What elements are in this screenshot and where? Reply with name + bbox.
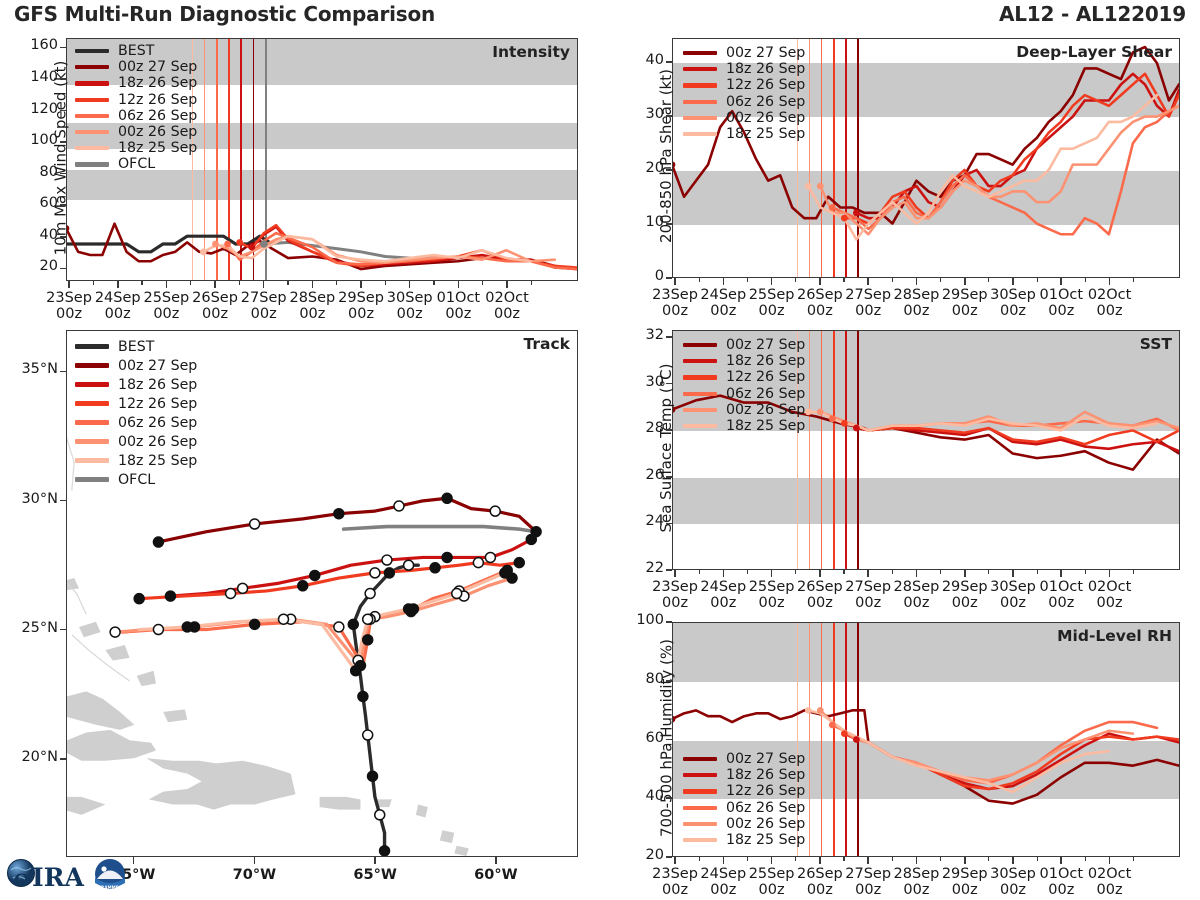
legend-swatch xyxy=(75,81,109,85)
panel-label-rh: Mid-Level RH xyxy=(1057,627,1172,645)
axis-tick-y: 20 xyxy=(618,847,664,863)
legend-label: 00z 26 Sep xyxy=(726,110,805,126)
axis-tickmark-x-minor xyxy=(699,570,700,574)
axis-tickmark-y xyxy=(60,141,66,143)
legend-swatch xyxy=(683,773,717,777)
axis-tickmark-x xyxy=(674,570,676,577)
axis-tickmark-x-minor xyxy=(988,857,989,861)
tick-date: 02Oct xyxy=(1075,866,1145,882)
legend-swatch xyxy=(683,806,717,810)
legend-sst: 00z 27 Sep18z 26 Sep12z 26 Sep06z 26 Sep… xyxy=(683,337,805,434)
legend-swatch xyxy=(683,100,717,104)
axis-tickmark-x-minor xyxy=(795,570,796,574)
legend-item: 06z 26 Sep xyxy=(683,94,805,110)
axis-tickmark-x xyxy=(964,570,966,577)
axis-tickmark-y xyxy=(666,223,672,225)
legend-swatch xyxy=(75,114,109,118)
track-marker-12z xyxy=(394,501,404,511)
axis-tickmark-x-minor xyxy=(1133,857,1134,861)
axis-tick-y: 30 xyxy=(618,106,664,122)
track-marker-12z xyxy=(334,622,344,632)
axis-tick-x: 02Oct00z xyxy=(1075,287,1145,319)
axis-tickmark-y xyxy=(60,78,66,80)
axis-tickmark-x-minor xyxy=(940,570,941,574)
axis-tickmark-x xyxy=(1109,857,1111,864)
legend-item: 12z 26 Sep xyxy=(75,394,197,413)
axis-tickmark-x-minor xyxy=(747,570,748,574)
legend-label: 12z 26 Sep xyxy=(118,396,197,412)
axis-tickmark-lat xyxy=(60,758,66,760)
track-marker-12z xyxy=(473,558,483,568)
legend-label: OFCL xyxy=(118,472,155,488)
landmass-antigua xyxy=(454,846,468,856)
legend-item: OFCL xyxy=(75,156,197,172)
axis-tickmark-x xyxy=(867,278,869,285)
axis-tick-lon: 70°W xyxy=(214,867,294,883)
axis-tickmark-y xyxy=(666,115,672,117)
axis-tickmark-x xyxy=(1060,857,1062,864)
axis-tick-y: 20 xyxy=(12,258,58,274)
legend-label: 18z 26 Sep xyxy=(726,61,805,77)
legend-label: 18z 25 Sep xyxy=(726,832,805,848)
axis-tickmark-y xyxy=(666,476,672,478)
legend-label: 00z 26 Sep xyxy=(726,402,805,418)
legend-label: 18z 25 Sep xyxy=(726,126,805,142)
axis-tick-lat: 35°N xyxy=(6,361,58,377)
axis-tickmark-y xyxy=(666,856,672,858)
axis-tickmark-x-minor xyxy=(531,281,532,285)
track-marker-12z xyxy=(250,519,260,529)
axis-tick-lon: 60°W xyxy=(456,867,536,883)
axis-tickmark-x xyxy=(1060,570,1062,577)
axis-tickmark-y xyxy=(666,523,672,525)
legend-item: 00z 26 Sep xyxy=(683,402,805,418)
legend-label: 06z 26 Sep xyxy=(726,800,805,816)
coastline-outline xyxy=(67,336,74,490)
axis-tick-y: 80 xyxy=(12,164,58,180)
tick-date: 02Oct xyxy=(1075,287,1145,303)
run-init-marker xyxy=(212,241,219,248)
axis-tickmark-x-minor xyxy=(843,857,844,861)
axis-tick-y: 60 xyxy=(12,195,58,211)
landmass-bahamas-3 xyxy=(105,645,129,660)
run-init-marker xyxy=(817,707,824,714)
panel-rh: Mid-Level RH00z 27 Sep18z 26 Sep12z 26 S… xyxy=(672,622,1180,857)
axis-tickmark-y xyxy=(666,336,672,338)
legend-item: 18z 26 Sep xyxy=(75,375,197,394)
legend-label: 18z 25 Sep xyxy=(118,140,197,156)
panel-shear: Deep-Layer Shear00z 27 Sep18z 26 Sep12z … xyxy=(672,38,1180,278)
run-init-marker xyxy=(200,248,207,255)
legend-item: 18z 25 Sep xyxy=(75,451,197,470)
tick-time: 00z xyxy=(472,306,542,322)
axis-tickmark-x xyxy=(867,857,869,864)
track-marker-12z xyxy=(370,568,380,578)
run-init-marker xyxy=(853,736,860,743)
axis-tickmark-x-minor xyxy=(747,857,748,861)
axis-tick-lat: 30°N xyxy=(6,491,58,507)
run-init-marker xyxy=(829,415,836,422)
track-marker-00z xyxy=(298,581,308,591)
legend-item: 00z 27 Sep xyxy=(683,45,805,61)
tick-time: 00z xyxy=(1075,303,1145,319)
axis-tickmark-x xyxy=(771,857,773,864)
track-marker-00z xyxy=(404,604,414,614)
diagnostic-figure: GFS Multi-Run Diagnostic Comparison AL12… xyxy=(0,0,1200,900)
plot-area-shear: Deep-Layer Shear00z 27 Sep18z 26 Sep12z … xyxy=(672,38,1180,278)
axis-tickmark-y xyxy=(666,621,672,623)
legend-item: 18z 26 Sep xyxy=(75,75,197,91)
axis-tickmark-y xyxy=(666,277,672,279)
legend-swatch xyxy=(683,67,717,71)
run-init-marker xyxy=(841,215,848,222)
axis-tickmark-y xyxy=(666,169,672,171)
track-marker-00z xyxy=(384,568,394,578)
cira-logo: C IRA RAMMB xyxy=(6,848,136,896)
legend-item: 06z 26 Sep xyxy=(683,800,805,816)
track-marker-00z xyxy=(442,493,452,503)
track-marker-12z xyxy=(365,589,375,599)
axis-tickmark-x-minor xyxy=(843,278,844,282)
landmass-cuba xyxy=(67,730,156,761)
axis-tickmark-x xyxy=(263,281,265,288)
axis-label-y-sst: Sea Surface Temp (°C) xyxy=(657,328,675,568)
legend-label: 00z 27 Sep xyxy=(118,358,197,374)
svg-text:RAMMB: RAMMB xyxy=(101,885,119,890)
legend-swatch xyxy=(75,65,109,69)
axis-tickmark-y xyxy=(666,61,672,63)
axis-tickmark-lat xyxy=(60,371,66,373)
track-marker-00z xyxy=(310,571,320,581)
legend-swatch xyxy=(683,343,717,347)
legend-swatch xyxy=(683,359,717,363)
legend-item: 00z 27 Sep xyxy=(75,356,197,375)
axis-tickmark-x-minor xyxy=(1085,570,1086,574)
legend-swatch xyxy=(75,382,109,386)
legend-item: BEST xyxy=(75,43,197,59)
legend-swatch xyxy=(683,789,717,793)
axis-tickmark-x-minor xyxy=(795,857,796,861)
axis-tickmark-lat xyxy=(60,500,66,502)
legend-swatch xyxy=(683,757,717,761)
axis-tickmark-y xyxy=(666,429,672,431)
tick-time: 00z xyxy=(1075,882,1145,898)
axis-tickmark-y xyxy=(666,569,672,571)
legend-label: 18z 26 Sep xyxy=(118,75,197,91)
legend-label: 06z 26 Sep xyxy=(726,386,805,402)
legend-item: 12z 26 Sep xyxy=(683,369,805,385)
track-marker-00z xyxy=(368,771,378,781)
axis-tick-y: 40 xyxy=(12,227,58,243)
run-init-marker xyxy=(841,730,848,737)
axis-tickmark-x xyxy=(1109,570,1111,577)
axis-tickmark-y xyxy=(60,268,66,270)
axis-tickmark-x-minor xyxy=(141,281,142,285)
track-marker-00z xyxy=(500,568,510,578)
axis-tick-x: 02Oct00z xyxy=(472,290,542,322)
axis-tickmark-x xyxy=(1012,570,1014,577)
track-marker-12z xyxy=(153,625,163,635)
axis-tickmark-x xyxy=(723,857,725,864)
axis-tick-y: 40 xyxy=(618,788,664,804)
legend-item: 00z 27 Sep xyxy=(683,337,805,353)
run-init-marker xyxy=(224,241,231,248)
axis-tickmark-x xyxy=(916,278,918,285)
legend-intensity: BEST00z 27 Sep18z 26 Sep12z 26 Sep06z 26… xyxy=(75,43,197,173)
track-line xyxy=(344,527,536,532)
axis-tickmark-x-minor xyxy=(239,281,240,285)
run-init-marker xyxy=(841,420,848,427)
legend-label: 12z 26 Sep xyxy=(726,369,805,385)
axis-tick-y: 40 xyxy=(618,52,664,68)
axis-tickmark-x xyxy=(68,281,70,288)
axis-tick-lat: 25°N xyxy=(6,620,58,636)
axis-tickmark-x-minor xyxy=(795,278,796,282)
axis-tickmark-y xyxy=(60,47,66,49)
legend-swatch xyxy=(75,477,109,481)
plot-area-track: TrackBEST00z 27 Sep18z 26 Sep12z 26 Sep0… xyxy=(66,330,578,857)
axis-tick-y: 60 xyxy=(618,730,664,746)
panel-track: TrackBEST00z 27 Sep18z 26 Sep12z 26 Sep0… xyxy=(66,330,578,857)
axis-tickmark-x xyxy=(916,570,918,577)
legend-swatch xyxy=(683,838,717,842)
axis-tickmark-x xyxy=(867,570,869,577)
legend-swatch xyxy=(683,116,717,120)
axis-tickmark-x-minor xyxy=(1133,570,1134,574)
plot-area-intensity: IntensityBEST00z 27 Sep18z 26 Sep12z 26 … xyxy=(66,38,578,281)
series-line xyxy=(252,227,577,269)
legend-label: 00z 27 Sep xyxy=(726,751,805,767)
track-marker-00z xyxy=(348,619,358,629)
plot-area-sst: SST00z 27 Sep18z 26 Sep12z 26 Sep06z 26 … xyxy=(672,330,1180,570)
panel-label-track: Track xyxy=(524,335,570,353)
track-marker-00z xyxy=(182,622,192,632)
run-init-marker xyxy=(853,425,860,432)
track-line xyxy=(158,498,536,542)
axis-tickmark-lon xyxy=(495,857,497,864)
track-marker-00z xyxy=(250,619,260,629)
legend-item: 06z 26 Sep xyxy=(75,413,197,432)
legend-item: 00z 26 Sep xyxy=(75,432,197,451)
track-marker-12z xyxy=(238,583,248,593)
track-marker-00z xyxy=(334,509,344,519)
legend-swatch xyxy=(683,424,717,428)
axis-tickmark-x xyxy=(360,281,362,288)
track-marker-00z xyxy=(351,666,361,676)
page-title: GFS Multi-Run Diagnostic Comparison xyxy=(14,2,435,26)
legend-item: 18z 26 Sep xyxy=(683,767,805,783)
tick-date: 02Oct xyxy=(472,290,542,306)
run-init-marker xyxy=(853,209,860,216)
landmass-leeward-2 xyxy=(440,830,454,843)
legend-item: 12z 26 Sep xyxy=(75,92,197,108)
axis-tick-y: 20 xyxy=(618,160,664,176)
axis-tick-y: 100 xyxy=(618,612,664,628)
axis-tick-y: 140 xyxy=(12,69,58,85)
axis-tickmark-x xyxy=(819,857,821,864)
axis-tickmark-y xyxy=(60,110,66,112)
run-init-marker xyxy=(829,204,836,211)
axis-tickmark-x-minor xyxy=(940,278,941,282)
track-marker-00z xyxy=(430,563,440,573)
axis-label-y-shear: 200-850 hPa Shear (kt) xyxy=(657,36,675,276)
landmass-virgin xyxy=(377,799,391,807)
axis-tickmark-x-minor xyxy=(988,278,989,282)
legend-swatch xyxy=(683,83,717,87)
axis-tick-y: 160 xyxy=(12,37,58,53)
svg-text:C: C xyxy=(14,871,28,891)
track-marker-12z xyxy=(382,555,392,565)
axis-tickmark-x xyxy=(723,278,725,285)
legend-swatch xyxy=(75,98,109,102)
legend-swatch xyxy=(683,51,717,55)
axis-tickmark-x xyxy=(1109,278,1111,285)
ofcl-init-marker xyxy=(260,240,268,248)
legend-label: 18z 25 Sep xyxy=(726,418,805,434)
landmass-leeward xyxy=(416,804,428,817)
landmass-jamaica xyxy=(67,797,105,815)
axis-tickmark-y xyxy=(60,204,66,206)
axis-tick-lat: 20°N xyxy=(6,749,58,765)
svg-text:IRA: IRA xyxy=(32,863,84,892)
legend-label: 00z 27 Sep xyxy=(726,45,805,61)
axis-tickmark-x-minor xyxy=(433,281,434,285)
axis-tickmark-x xyxy=(1012,278,1014,285)
landmass-bahamas-4 xyxy=(137,671,156,686)
legend-label: 06z 26 Sep xyxy=(726,94,805,110)
series-line xyxy=(844,734,1179,789)
panel-sst: SST00z 27 Sep18z 26 Sep12z 26 Sep06z 26 … xyxy=(672,330,1180,570)
axis-tickmark-y xyxy=(60,236,66,238)
axis-tick-y: 30 xyxy=(618,374,664,390)
legend-label: BEST xyxy=(118,43,154,59)
axis-tickmark-x-minor xyxy=(988,570,989,574)
axis-tick-y: 28 xyxy=(618,420,664,436)
run-init-marker xyxy=(248,244,255,251)
legend-item: 00z 27 Sep xyxy=(75,59,197,75)
axis-tickmark-x xyxy=(674,857,676,864)
axis-tickmark-y xyxy=(60,173,66,175)
legend-label: 06z 26 Sep xyxy=(118,415,197,431)
run-init-marker xyxy=(805,183,812,190)
legend-item: 00z 26 Sep xyxy=(75,124,197,140)
legend-item: 18z 25 Sep xyxy=(75,140,197,156)
series-line xyxy=(808,95,1157,239)
axis-tick-y: 26 xyxy=(618,467,664,483)
track-marker-00z xyxy=(165,591,175,601)
track-marker-00z xyxy=(134,594,144,604)
legend-label: OFCL xyxy=(118,156,155,172)
axis-tickmark-x-minor xyxy=(385,281,386,285)
run-init-marker xyxy=(817,409,824,416)
legend-swatch xyxy=(75,439,109,443)
track-marker-12z xyxy=(110,627,120,637)
legend-label: 18z 25 Sep xyxy=(118,453,197,469)
axis-tick-y: 100 xyxy=(12,132,58,148)
track-marker-00z xyxy=(442,552,452,562)
axis-tickmark-x-minor xyxy=(1037,570,1038,574)
axis-tick-y: 10 xyxy=(618,214,664,230)
axis-tickmark-y xyxy=(666,383,672,385)
axis-tickmark-x xyxy=(819,278,821,285)
axis-tickmark-y xyxy=(666,797,672,799)
run-init-marker xyxy=(805,409,812,416)
axis-tick-y: 24 xyxy=(618,513,664,529)
axis-tickmark-x xyxy=(771,278,773,285)
legend-label: 18z 26 Sep xyxy=(118,377,197,393)
axis-tickmark-x-minor xyxy=(1133,278,1134,282)
legend-label: BEST xyxy=(118,339,154,355)
legend-rh: 00z 27 Sep18z 26 Sep12z 26 Sep06z 26 Sep… xyxy=(683,751,805,848)
legend-label: 12z 26 Sep xyxy=(726,77,805,93)
axis-tickmark-x-minor xyxy=(1085,857,1086,861)
axis-tickmark-x-minor xyxy=(699,278,700,282)
legend-track: BEST00z 27 Sep18z 26 Sep12z 26 Sep06z 26… xyxy=(75,337,197,489)
track-marker-00z xyxy=(153,537,163,547)
axis-tickmark-x xyxy=(458,281,460,288)
landmass-bahamas-5 xyxy=(163,709,187,722)
track-marker-12z xyxy=(490,506,500,516)
legend-item: 12z 26 Sep xyxy=(683,77,805,93)
legend-item: 06z 26 Sep xyxy=(683,386,805,402)
axis-tickmark-y xyxy=(666,680,672,682)
axis-tickmark-x xyxy=(312,281,314,288)
tick-date: 02Oct xyxy=(1075,579,1145,595)
axis-tickmark-x xyxy=(964,857,966,864)
axis-tickmark-x-minor xyxy=(93,281,94,285)
axis-tickmark-x xyxy=(214,281,216,288)
legend-label: 18z 26 Sep xyxy=(726,353,805,369)
axis-tickmark-x xyxy=(117,281,119,288)
legend-shear: 00z 27 Sep18z 26 Sep12z 26 Sep06z 26 Sep… xyxy=(683,45,805,142)
legend-label: 00z 26 Sep xyxy=(726,816,805,832)
legend-item: 06z 26 Sep xyxy=(75,108,197,124)
axis-tickmark-x xyxy=(674,278,676,285)
legend-item: 18z 25 Sep xyxy=(683,126,805,142)
legend-item: 18z 26 Sep xyxy=(683,61,805,77)
legend-label: 00z 27 Sep xyxy=(726,337,805,353)
landmass-cuba-north xyxy=(67,691,134,730)
legend-swatch xyxy=(683,822,717,826)
axis-tick-lon: 65°W xyxy=(335,867,415,883)
panel-label-shear: Deep-Layer Shear xyxy=(1016,43,1172,61)
axis-tickmark-x-minor xyxy=(747,278,748,282)
panel-label-intensity: Intensity xyxy=(492,43,570,61)
axis-tickmark-x xyxy=(723,570,725,577)
landmass-bahamas-2 xyxy=(79,622,101,637)
plot-area-rh: Mid-Level RH00z 27 Sep18z 26 Sep12z 26 S… xyxy=(672,622,1180,857)
legend-label: 12z 26 Sep xyxy=(726,783,805,799)
axis-tickmark-lat xyxy=(60,629,66,631)
track-marker-12z xyxy=(452,589,462,599)
axis-tickmark-x xyxy=(409,281,411,288)
axis-tickmark-x xyxy=(1012,857,1014,864)
legend-item: 00z 27 Sep xyxy=(683,751,805,767)
axis-tickmark-y xyxy=(666,739,672,741)
track-marker-00z xyxy=(380,846,390,856)
axis-tick-y: 0 xyxy=(618,268,664,284)
legend-swatch xyxy=(75,363,109,367)
track-marker-12z xyxy=(485,552,495,562)
axis-tickmark-x-minor xyxy=(940,857,941,861)
legend-label: 00z 26 Sep xyxy=(118,434,197,450)
axis-tickmark-x xyxy=(771,570,773,577)
axis-tickmark-x xyxy=(166,281,168,288)
run-init-marker xyxy=(829,722,836,729)
coastline-outline xyxy=(67,527,86,615)
storm-id-label: AL12 - AL122019 xyxy=(999,2,1186,26)
track-marker-00z xyxy=(514,558,524,568)
